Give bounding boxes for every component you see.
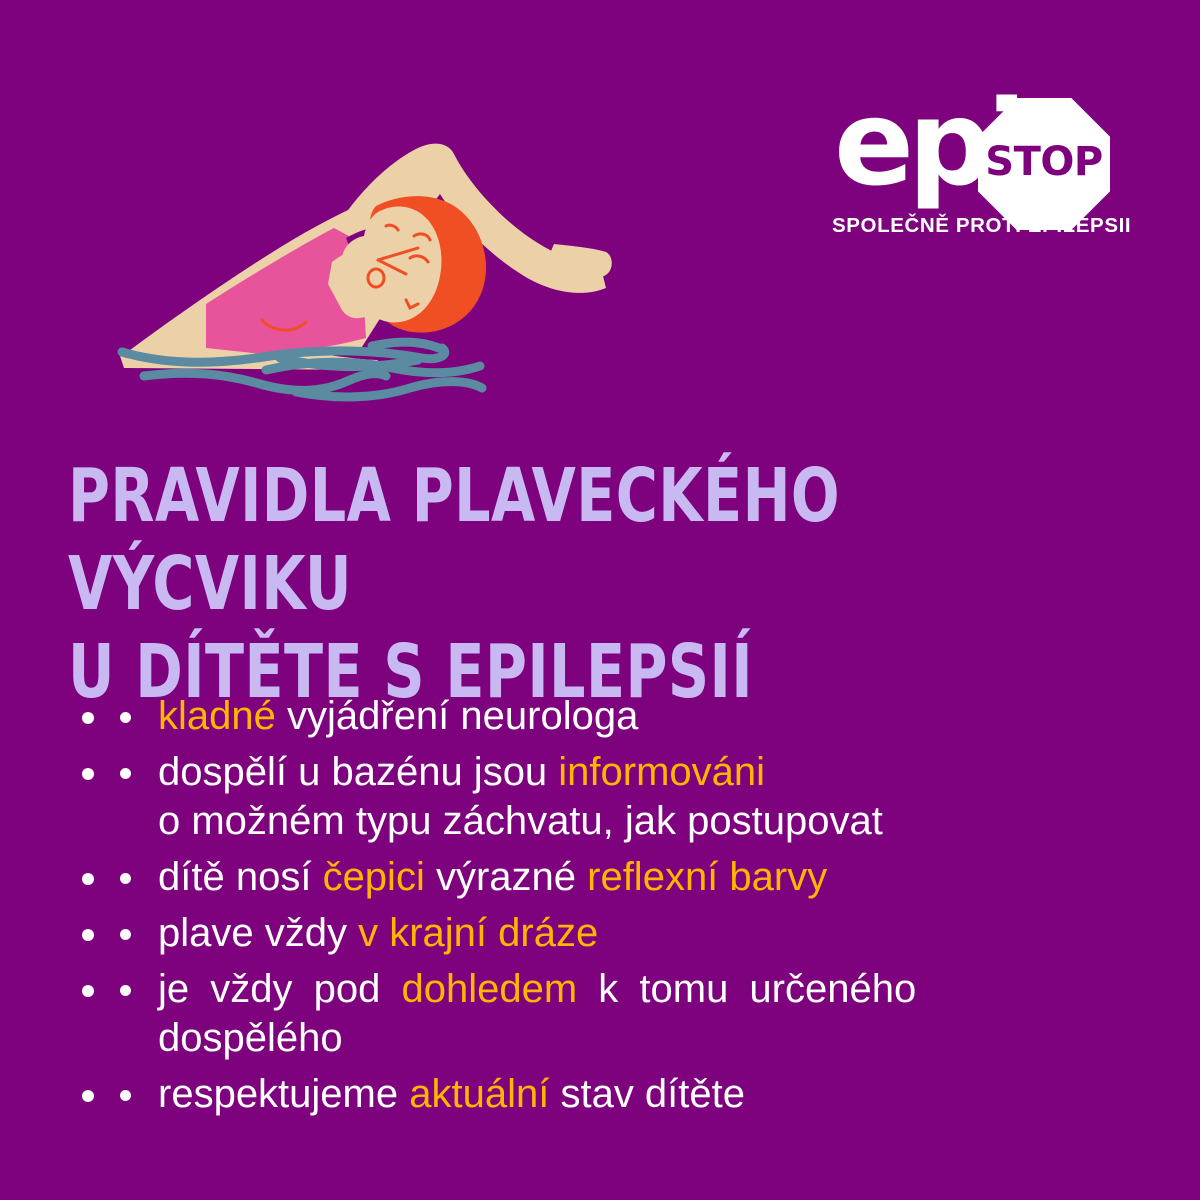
- list-item: plave vždy v krajní dráze: [112, 909, 1142, 958]
- list-item: respektujeme aktuální stav dítěte: [112, 1070, 1142, 1119]
- plain-text: výrazné: [425, 855, 587, 899]
- plain-text: dospělého: [158, 1016, 343, 1060]
- highlighted-term: čepici: [323, 855, 425, 899]
- list-item: je vždy pod dohledem k tomu určenéhodosp…: [112, 965, 1142, 1063]
- highlighted-term: dohledem: [401, 967, 577, 1011]
- highlighted-term: kladné: [158, 694, 276, 738]
- epistop-logo: epi STOP SPOLEČNĚ PROTI EPILEPSII: [828, 96, 1128, 246]
- page-title: PRAVIDLA PLAVECKÉHO VÝCVIKU U DÍTĚTE S E…: [68, 452, 1005, 716]
- bullet-text: kladné vyjádření neurologa: [158, 692, 1142, 741]
- bullet-text: respektujeme aktuální stav dítěte: [158, 1070, 1142, 1119]
- rules-list: kladné vyjádření neurologa dospělí u baz…: [112, 692, 1142, 1126]
- swimmer-svg: [110, 88, 630, 410]
- highlighted-term: reflexní barvy: [587, 855, 827, 899]
- bullet-dot-icon: [120, 1090, 131, 1101]
- plain-text: o možném typu záchvatu, jak postupovat: [158, 799, 883, 843]
- list-item: kladné vyjádření neurologa: [112, 692, 1142, 741]
- logo-badge-text: STOP: [985, 139, 1102, 185]
- bullet-dot-icon: [120, 768, 131, 779]
- bullet-dot-icon: [120, 985, 131, 996]
- logo-mark: epi STOP: [828, 96, 1128, 212]
- bullet-text: plave vždy v krajní dráze: [158, 909, 1142, 958]
- highlighted-term: informováni: [558, 750, 765, 794]
- plain-text: respektujeme: [158, 1072, 409, 1116]
- list-item: dítě nosí čepici výrazné reflexní barvy: [112, 853, 1142, 902]
- bullet-dot-icon: [120, 929, 131, 940]
- poster-root: epi STOP SPOLEČNĚ PROTI EPILEPSII PRAVID…: [0, 0, 1200, 1200]
- plain-text: je vždy pod: [158, 967, 401, 1011]
- stop-octagon-icon: STOP: [978, 98, 1110, 230]
- bullet-text: je vždy pod dohledem k tomu určenéhodosp…: [158, 965, 1142, 1063]
- highlighted-term: aktuální: [409, 1072, 549, 1116]
- highlighted-term: v krajní dráze: [358, 911, 598, 955]
- swimming-child-illustration: [110, 88, 630, 410]
- bullet-text: dospělí u bazénu jsou informováni o možn…: [158, 748, 1142, 846]
- bullet-dot-icon: [120, 873, 131, 884]
- wave-4: [144, 373, 386, 390]
- plain-text: dospělí u bazénu jsou: [158, 750, 558, 794]
- bullet-dot-icon: [120, 712, 131, 723]
- plain-text: k tomu určeného: [577, 967, 916, 1011]
- list-item: dospělí u bazénu jsou informováni o možn…: [112, 748, 1142, 846]
- plain-text: plave vždy: [158, 911, 358, 955]
- plain-text: dítě nosí: [158, 855, 323, 899]
- bullet-text: dítě nosí čepici výrazné reflexní barvy: [158, 853, 1142, 902]
- logo-tagline: SPOLEČNĚ PROTI EPILEPSII: [832, 214, 1124, 238]
- plain-text: vyjádření neurologa: [276, 694, 638, 738]
- plain-text: stav dítěte: [549, 1072, 745, 1116]
